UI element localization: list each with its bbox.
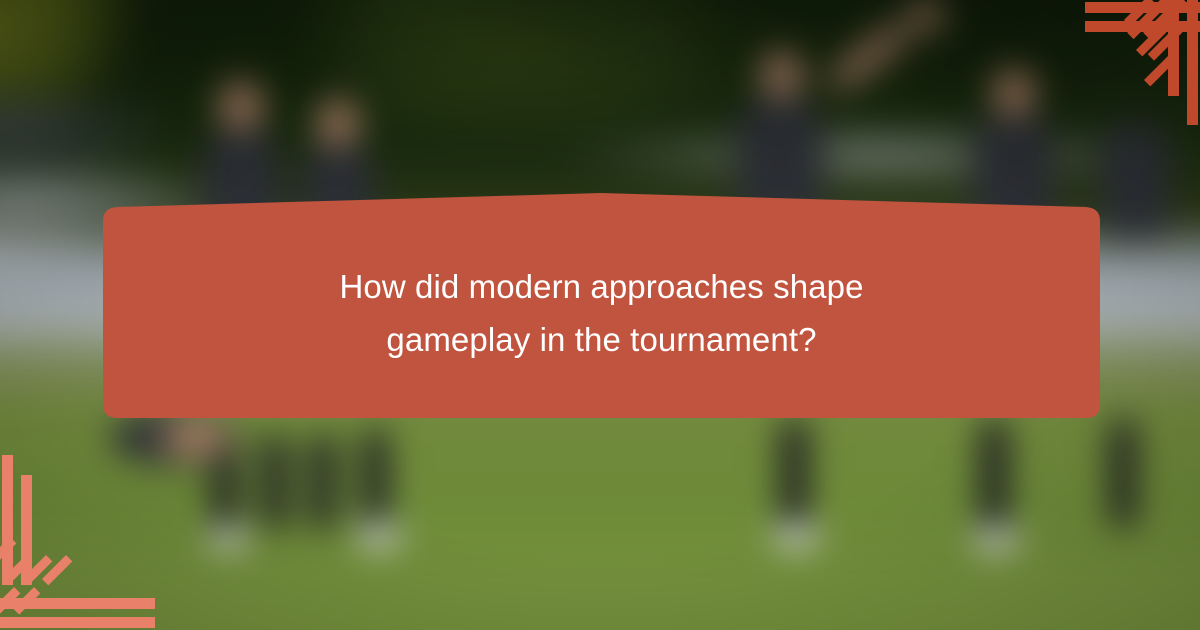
- question-banner: How did modern approaches shape gameplay…: [103, 186, 1100, 426]
- question-text-block: How did modern approaches shape gameplay…: [103, 186, 1100, 426]
- question-line-2: gameplay in the tournament?: [386, 313, 816, 366]
- ornament-hatch-top-right: [1040, 0, 1200, 130]
- question-line-1: How did modern approaches shape: [339, 260, 863, 313]
- corner-ornament-top-right: [1040, 0, 1200, 130]
- quote-card: How did modern approaches shape gameplay…: [0, 0, 1200, 630]
- ornament-hatch-bottom-left: [0, 455, 165, 630]
- corner-ornament-bottom-left: [0, 455, 165, 630]
